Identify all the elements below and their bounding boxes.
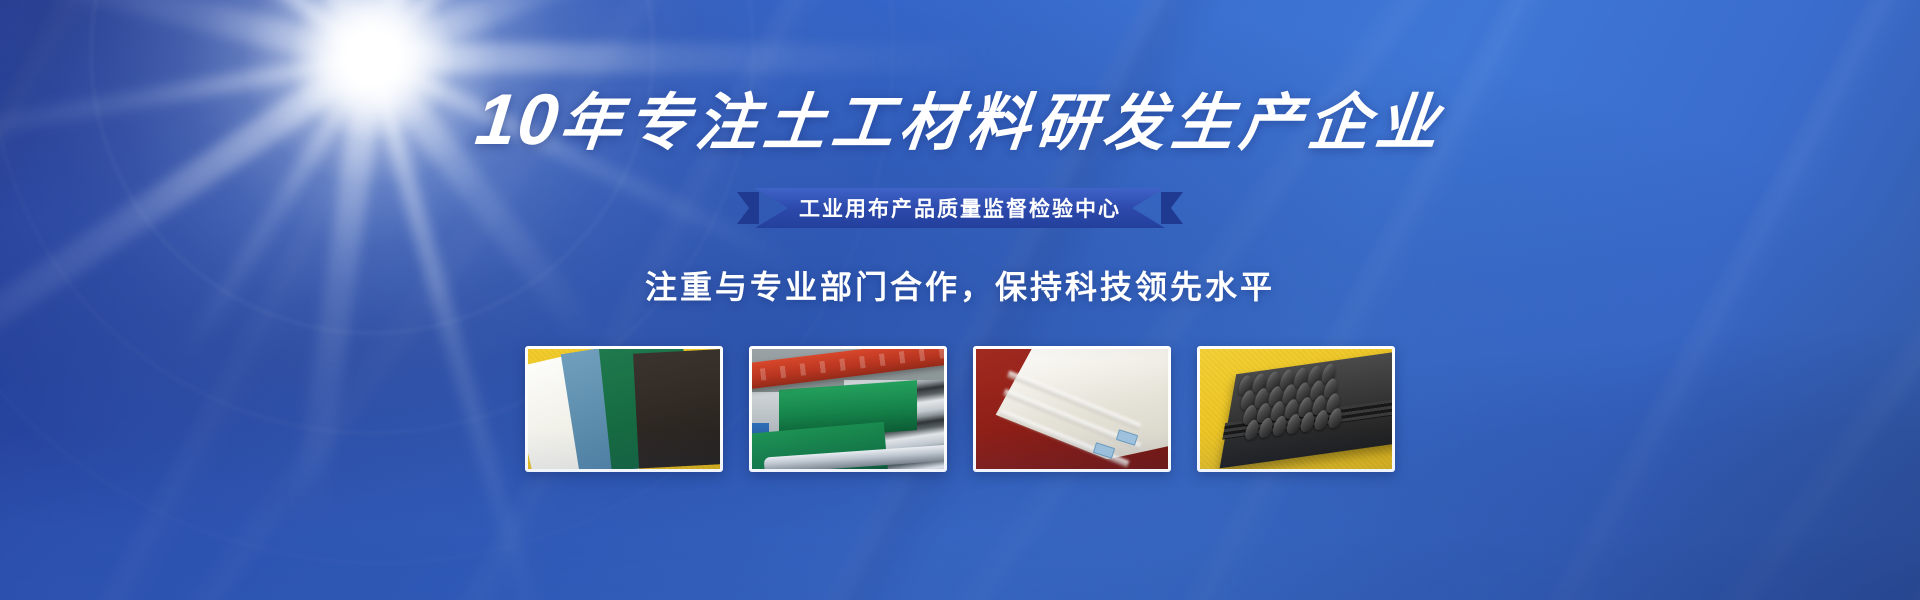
- headline-text: 年专注土工材料研发生产企业: [556, 89, 1447, 158]
- ribbon-body: 工业用布产品质量监督检验中心: [755, 188, 1165, 228]
- tagline: 注重与专业部门合作，保持科技领先水平: [645, 262, 1275, 308]
- product-photo-geomembrane-sheets[interactable]: [525, 346, 723, 472]
- ribbon-tail-right-icon: [1161, 192, 1183, 224]
- ribbon-label: 工业用布产品质量监督检验中心: [799, 193, 1121, 223]
- banner-content: 10年专注土工材料研发生产企业 工业用布产品质量监督检验中心 注重与专业部门合作…: [0, 0, 1920, 600]
- headline-number: 10: [472, 80, 565, 160]
- product-photo-production-line[interactable]: [749, 346, 947, 472]
- promo-banner: 10年专注土工材料研发生产企业 工业用布产品质量监督检验中心 注重与专业部门合作…: [0, 0, 1920, 600]
- headline: 10年专注土工材料研发生产企业: [472, 84, 1448, 156]
- product-photo-drainage-board[interactable]: [1197, 346, 1395, 472]
- sheet-black: [633, 349, 723, 469]
- product-photo-white-geotextile[interactable]: [973, 346, 1171, 472]
- certification-ribbon: 工业用布产品质量监督检验中心: [755, 188, 1165, 228]
- product-photo-strip: [525, 346, 1395, 472]
- ribbon-tail-left-icon: [737, 192, 759, 224]
